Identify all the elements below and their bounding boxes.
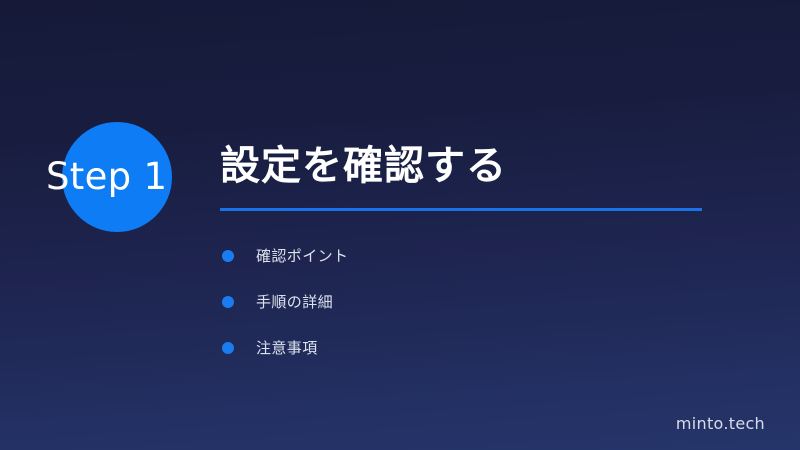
slide-canvas: Step 1 設定を確認する 確認ポイント 手順の詳細 注意事項 minto.t… [0, 0, 800, 450]
title-divider [220, 208, 702, 211]
list-item: 注意事項 [220, 325, 760, 371]
page-title: 設定を確認する [220, 140, 760, 192]
bullet-list: 確認ポイント 手順の詳細 注意事項 [220, 233, 760, 371]
bullet-dot-icon [222, 342, 234, 354]
step-label: Step 1 [46, 155, 167, 199]
list-item-label: 注意事項 [256, 338, 318, 358]
bullet-dot-icon [222, 250, 234, 262]
slide-content: 設定を確認する 確認ポイント 手順の詳細 注意事項 [220, 140, 760, 371]
footer-brand: minto.tech [676, 414, 765, 434]
list-item-label: 手順の詳細 [256, 292, 333, 312]
list-item-label: 確認ポイント [256, 246, 348, 266]
bullet-dot-icon [222, 296, 234, 308]
list-item: 手順の詳細 [220, 279, 760, 325]
list-item: 確認ポイント [220, 233, 760, 279]
